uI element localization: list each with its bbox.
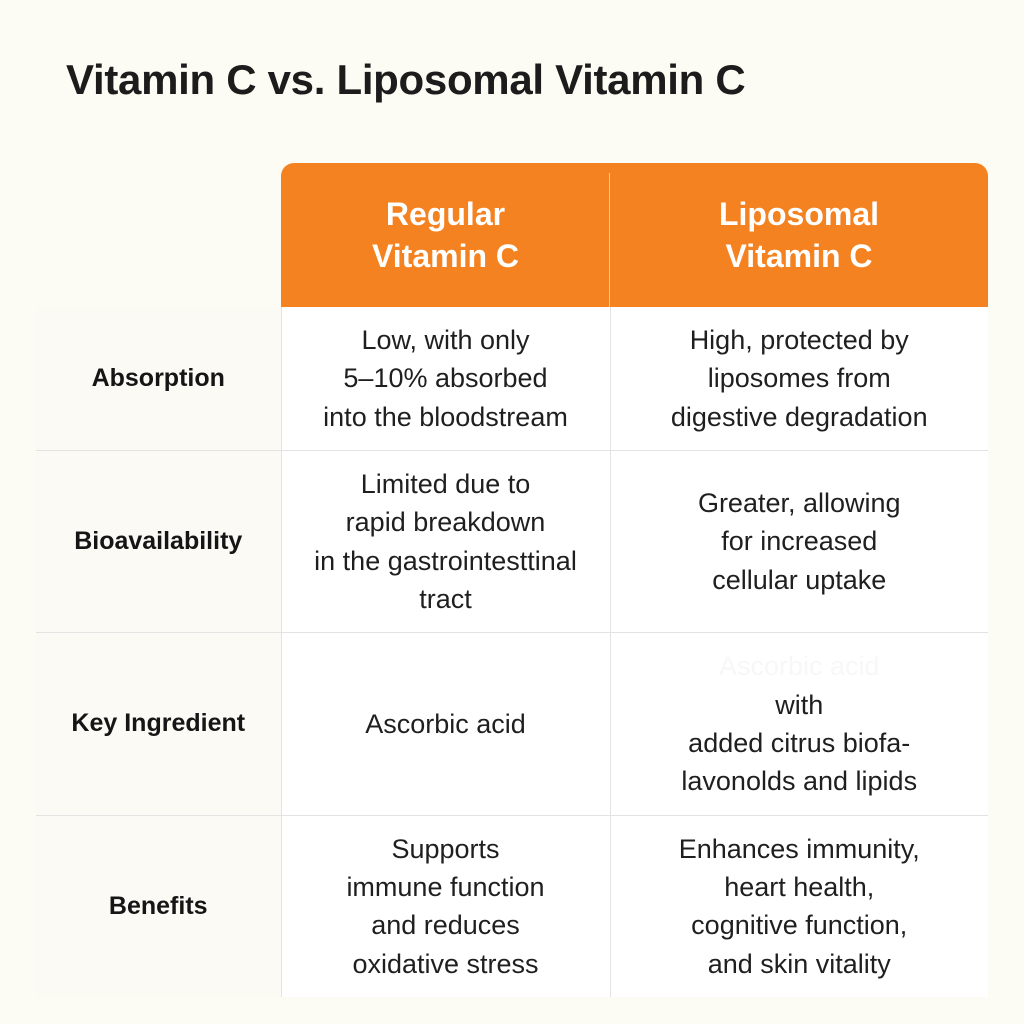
table-header: Regular Vitamin C Liposomal Vitamin C [36,163,988,307]
cell-benefits-regular: Supports immune function and reduces oxi… [281,815,610,997]
comparison-table: Regular Vitamin C Liposomal Vitamin C Ab… [36,163,988,997]
cell-line: and reduces [294,906,598,944]
cell-line: Low, with only [294,321,598,359]
row-label-absorption: Absorption [36,307,281,450]
cell-line: Limited due to [294,465,598,503]
cell-line: cellular uptake [623,561,977,599]
cell-bioavailability-liposomal: Greater, allowing for increased cellular… [610,450,988,632]
cell-key-ingredient-liposomal: Ascorbic acid with added citrus biofa- l… [610,633,988,815]
cell-benefits-liposomal: Enhances immunity, heart health, cogniti… [610,815,988,997]
cell-line: added citrus biofa- [623,724,977,762]
table-row-absorption: Absorption Low, with only 5–10% absorbed… [36,307,988,450]
column-header-regular-vitamin-c: Regular Vitamin C [281,163,610,307]
column-header-liposomal-vitamin-c: Liposomal Vitamin C [610,163,988,307]
column-header-regular-line-2: Vitamin C [295,235,596,277]
cell-bioavailability-regular: Limited due to rapid breakdown in the ga… [281,450,610,632]
cell-line: Supports [294,830,598,868]
row-label-bioavailability: Bioavailability [36,450,281,632]
cell-line: lavonolds and lipids [623,762,977,800]
table-row-benefits: Benefits Supports immune function and re… [36,815,988,997]
page-title: Vitamin C vs. Liposomal Vitamin C [66,56,745,104]
cell-absorption-regular: Low, with only 5–10% absorbed into the b… [281,307,610,450]
column-header-regular-line-1: Regular [295,193,596,235]
cell-line: with [623,686,977,724]
cell-line: tract [294,580,598,618]
cell-line: into the bloodstream [294,398,598,436]
column-header-liposomal-line-1: Liposomal [624,193,974,235]
cell-line: High, protected by [623,321,977,359]
column-header-liposomal-line-2: Vitamin C [624,235,974,277]
cell-absorption-liposomal: High, protected by liposomes from digest… [610,307,988,450]
cell-line: for increased [623,522,977,560]
cell-line: heart health, [623,868,977,906]
cell-line: 5–10% absorbed [294,359,598,397]
cell-line: Ascorbic acid [294,705,598,743]
cell-line: cognitive function, [623,906,977,944]
cell-line-faded: Ascorbic acid [623,647,977,685]
cell-line: and skin vitality [623,945,977,983]
header-corner-spacer [36,163,281,307]
header-row: Regular Vitamin C Liposomal Vitamin C [36,163,988,307]
table-row-key-ingredient: Key Ingredient Ascorbic acid Ascorbic ac… [36,633,988,815]
row-label-benefits: Benefits [36,815,281,997]
cell-line: in the gastrointesttinal [294,542,598,580]
cell-line: liposomes from [623,359,977,397]
row-label-key-ingredient: Key Ingredient [36,633,281,815]
table-row-bioavailability: Bioavailability Limited due to rapid bre… [36,450,988,632]
cell-key-ingredient-regular: Ascorbic acid [281,633,610,815]
cell-line: immune function [294,868,598,906]
table-body: Absorption Low, with only 5–10% absorbed… [36,307,988,997]
cell-line: Enhances immunity, [623,830,977,868]
cell-line: rapid breakdown [294,503,598,541]
cell-line: oxidative stress [294,945,598,983]
cell-line: digestive degradation [623,398,977,436]
infographic-page: Vitamin C vs. Liposomal Vitamin C Regula… [0,0,1024,1024]
cell-line: Greater, allowing [623,484,977,522]
